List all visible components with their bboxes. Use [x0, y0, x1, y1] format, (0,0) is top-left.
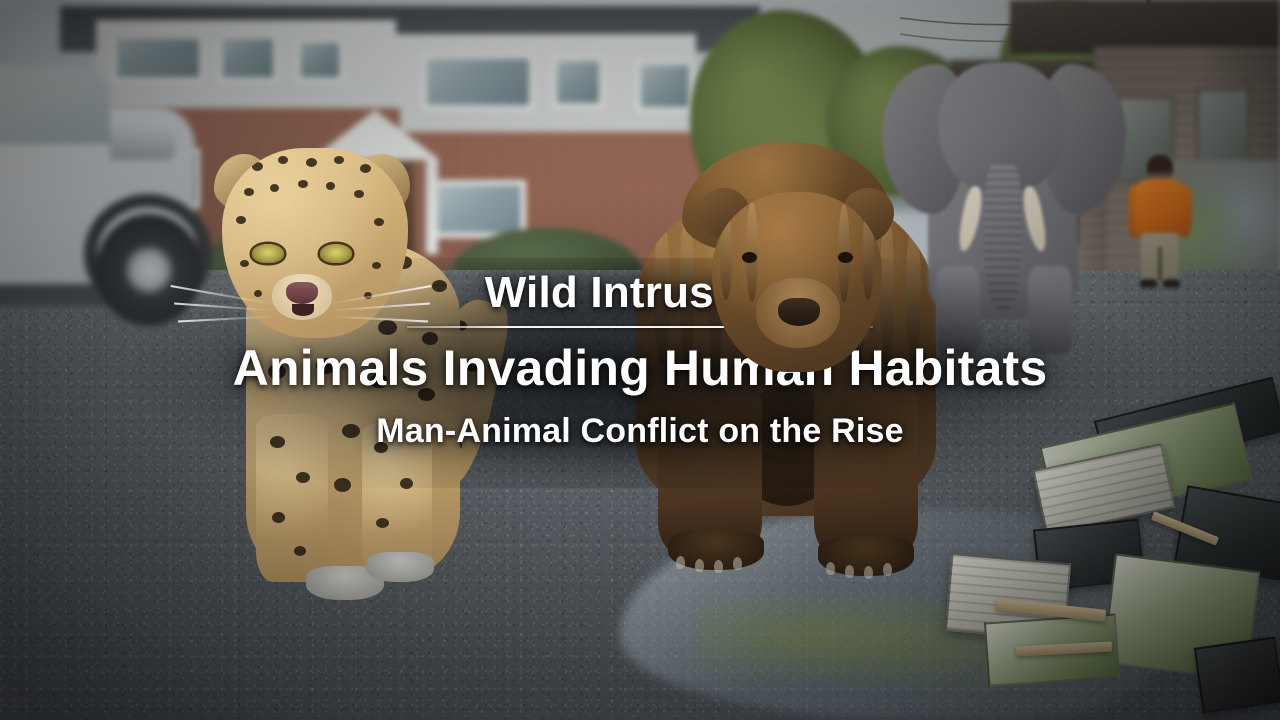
headline-line-2: Animals Invading Human Habitats	[233, 342, 1048, 395]
bear-eye-left	[742, 252, 757, 263]
subtitle: Man-Animal Conflict on the Rise	[376, 413, 904, 450]
leopard-eye-right	[320, 244, 352, 263]
bear-nose	[778, 298, 820, 326]
leopard-eye-left	[252, 244, 284, 263]
title-block: Wild Intrusion: Animals Invading Human H…	[0, 0, 1280, 720]
leopard-nose	[286, 282, 318, 304]
bear-eye-right	[838, 252, 853, 263]
leopard-mouth	[292, 304, 314, 316]
banner-image: Wild Intrusion: Animals Invading Human H…	[0, 0, 1280, 720]
